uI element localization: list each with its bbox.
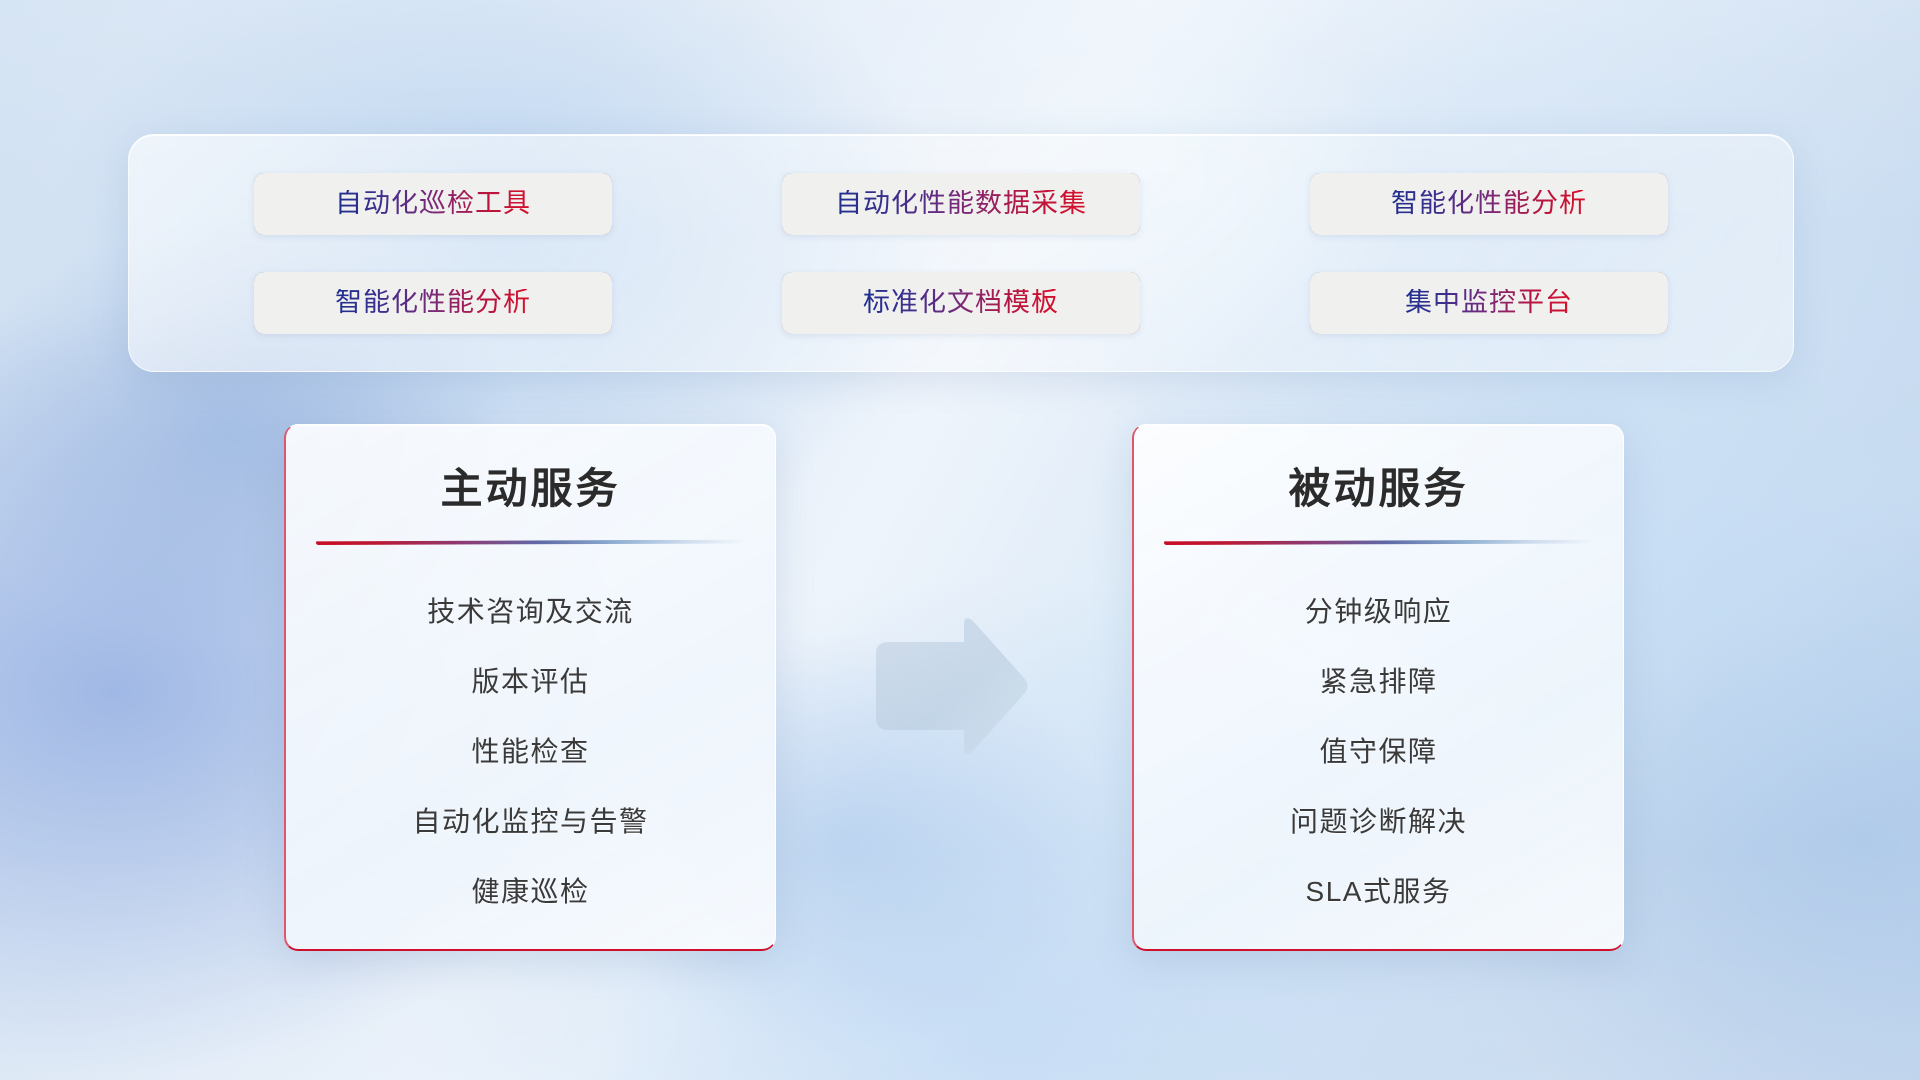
list-item[interactable]: 健康巡检	[471, 857, 589, 927]
capability-pill-panel: 自动化巡检工具 自动化性能数据采集 智能化性能分析 智能化性能分析 标准化文档模…	[128, 134, 1794, 372]
service-list-active: 技术咨询及交流 版本评估 性能检查 自动化监控与告警 健康巡检	[320, 577, 741, 927]
list-item[interactable]: SLA式服务	[1306, 857, 1452, 927]
list-item[interactable]: 紧急排障	[1319, 647, 1437, 717]
card-divider	[1164, 540, 1594, 546]
capability-pill-label: 智能化性能分析	[335, 289, 531, 316]
capability-pill-label: 自动化巡检工具	[335, 190, 531, 217]
capability-pill-1[interactable]: 自动化巡检工具	[254, 173, 612, 235]
service-list-passive: 分钟级响应 紧急排障 值守保障 问题诊断解决 SLA式服务	[1168, 577, 1589, 927]
capability-pill-4[interactable]: 智能化性能分析	[254, 272, 612, 334]
service-card-passive[interactable]: 被动服务 分钟级响应 紧急排障 值守保障 问题诊断解决 SLA式服务	[1132, 424, 1624, 951]
list-item[interactable]: 性能检查	[471, 717, 589, 787]
capability-pill-3[interactable]: 智能化性能分析	[1310, 173, 1668, 235]
capability-pill-label: 标准化文档模板	[863, 289, 1059, 316]
list-item[interactable]: 分钟级响应	[1305, 577, 1453, 647]
list-item[interactable]: 版本评估	[471, 647, 589, 717]
card-title-active: 主动服务	[440, 463, 620, 516]
capability-pill-2[interactable]: 自动化性能数据采集	[782, 173, 1140, 235]
list-item[interactable]: 技术咨询及交流	[427, 577, 634, 647]
capability-pill-label: 集中监控平台	[1405, 289, 1573, 316]
list-item[interactable]: 问题诊断解决	[1290, 787, 1467, 857]
capability-pill-label: 自动化性能数据采集	[835, 190, 1087, 217]
service-card-active[interactable]: 主动服务 技术咨询及交流 版本评估 性能检查 自动化监控与告警 健康巡检	[284, 424, 776, 951]
capability-pill-label: 智能化性能分析	[1391, 190, 1587, 217]
list-item[interactable]: 值守保障	[1319, 717, 1437, 787]
arrow-right-icon	[872, 618, 1030, 754]
card-divider	[316, 540, 746, 546]
capability-pill-6[interactable]: 集中监控平台	[1310, 272, 1668, 334]
slide-canvas: 自动化巡检工具 自动化性能数据采集 智能化性能分析 智能化性能分析 标准化文档模…	[0, 0, 1920, 1080]
list-item[interactable]: 自动化监控与告警	[412, 787, 648, 857]
card-title-passive: 被动服务	[1288, 463, 1468, 516]
capability-pill-5[interactable]: 标准化文档模板	[782, 272, 1140, 334]
